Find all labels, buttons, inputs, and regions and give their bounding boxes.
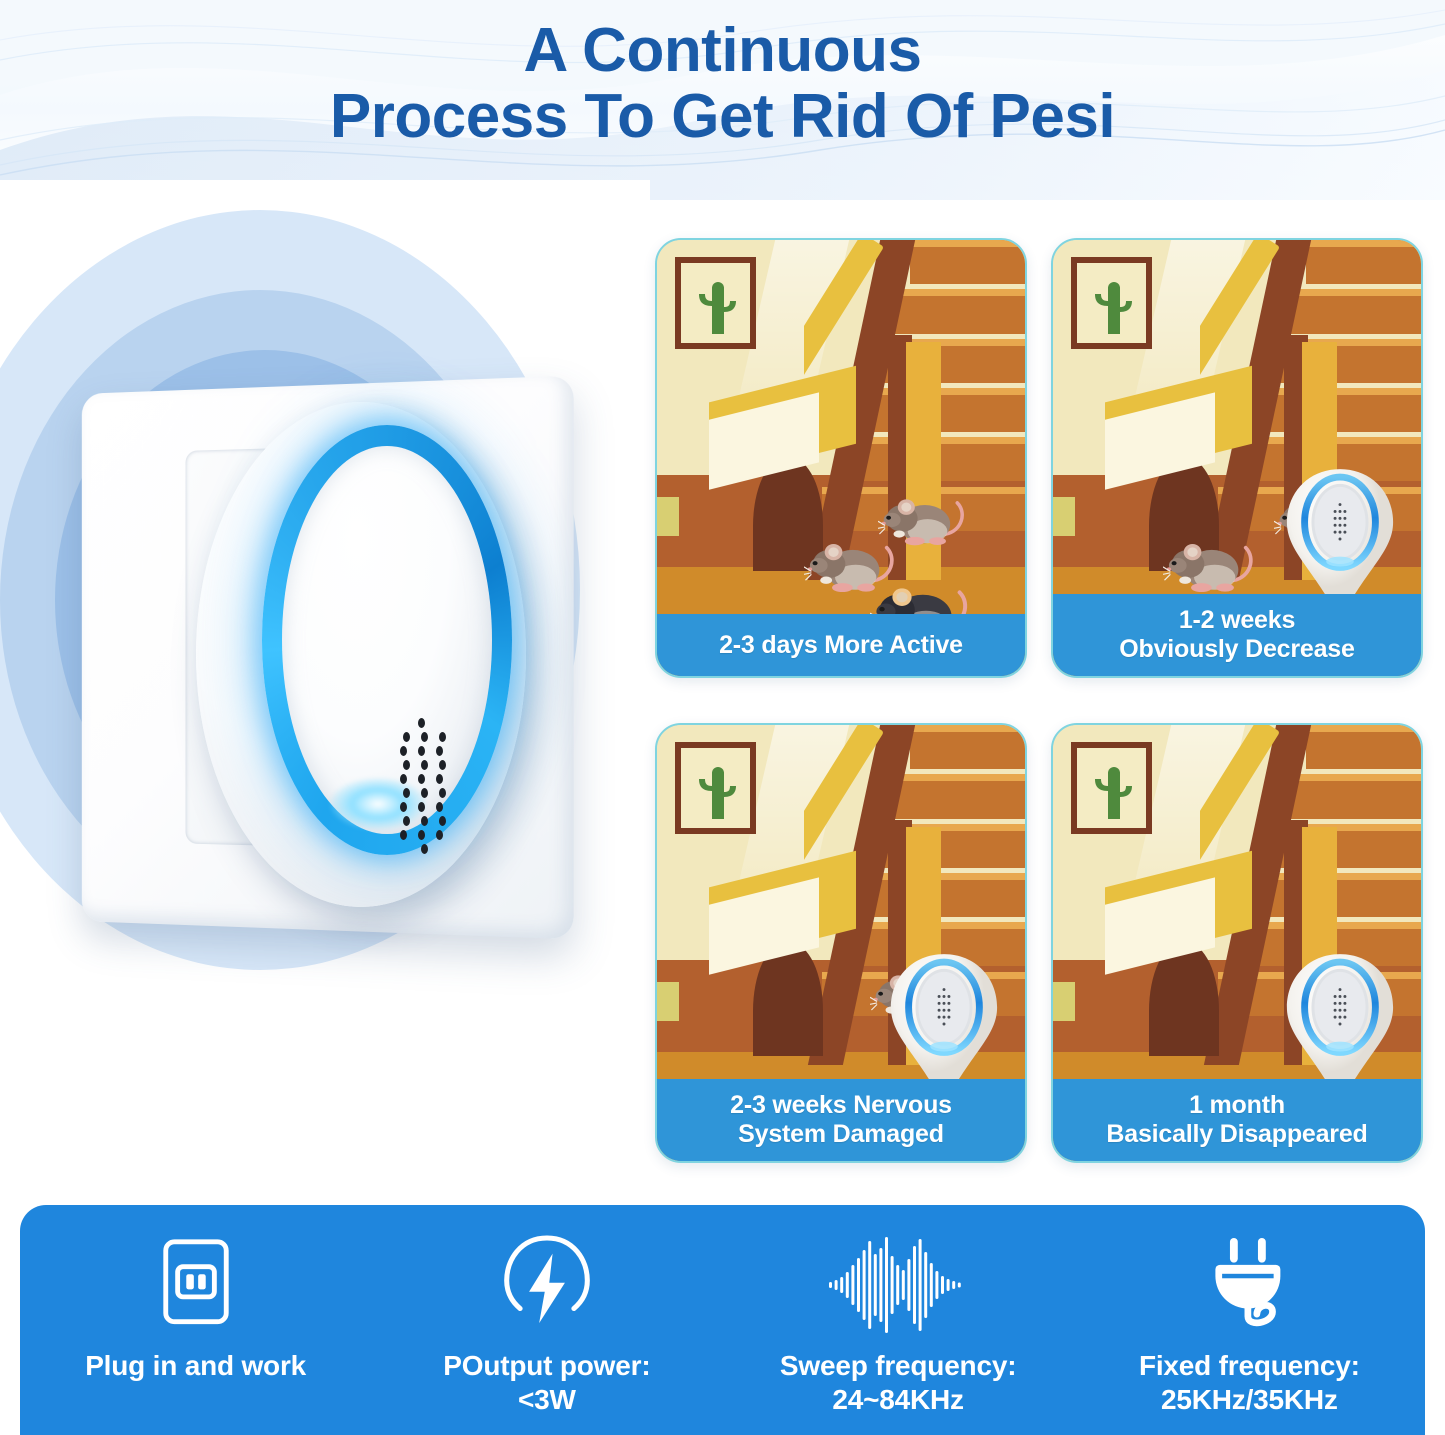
grille-dot: [436, 746, 443, 756]
page-title: A Continuous Process To Get Rid Of Pesi: [0, 18, 1445, 149]
grille-dot: [418, 746, 425, 756]
wall-patch: [1053, 982, 1075, 1021]
wave-bar: [880, 1248, 883, 1322]
feature-label-3-line1: Sweep frequency:: [780, 1350, 1016, 1381]
wave-bar: [958, 1283, 961, 1288]
wave-bar: [840, 1277, 843, 1293]
power-plug-icon: [1193, 1229, 1305, 1341]
power-outlet-icon: [142, 1229, 250, 1341]
feature-plug-in-and-work: Plug in and work: [20, 1205, 371, 1435]
cactus-picture-frame: [675, 257, 756, 349]
stage-caption-line2: Basically Disappeared: [1106, 1120, 1367, 1148]
wave-bar: [874, 1254, 877, 1316]
stage-caption-line1: 1-2 weeks: [1179, 606, 1295, 634]
grille-dot: [421, 844, 428, 854]
wave-bar: [852, 1265, 855, 1305]
stage-caption-line2: System Damaged: [738, 1120, 944, 1148]
product-infographic: A Continuous Process To Get Rid Of Pesi: [0, 0, 1445, 1435]
grille-dot: [403, 732, 410, 742]
header-banner: A Continuous Process To Get Rid Of Pesi: [0, 0, 1445, 200]
grille-dot: [421, 816, 428, 826]
grille-dot: [421, 732, 428, 742]
feature-label-1-line1: Plug in and work: [85, 1350, 306, 1381]
grille-dot: [439, 732, 446, 742]
grille-dot: [439, 816, 446, 826]
stage-card[interactable]: 1-2 weeks Obviously Decrease: [1051, 238, 1423, 678]
grille-dot: [400, 830, 407, 840]
stair-step: [910, 725, 1025, 769]
room-scene: [657, 240, 1025, 676]
grille-dot: [421, 760, 428, 770]
grille-dot: [403, 816, 410, 826]
feature-label-3-line2: 24~84KHz: [832, 1384, 963, 1415]
stage-caption-line2: Obviously Decrease: [1119, 635, 1354, 663]
feature-label-4: Fixed frequency: 25KHz/35KHz: [1139, 1349, 1360, 1417]
wave-bar: [902, 1270, 905, 1300]
grille-dot: [436, 830, 443, 840]
grille-dot: [400, 746, 407, 756]
wave-bar: [924, 1252, 927, 1318]
feature-label-2: POutput power: <3W: [443, 1349, 650, 1417]
lightning-bolt-icon: [491, 1229, 603, 1341]
grille-dot: [418, 802, 425, 812]
stage-caption-line1: 2-3 weeks Nervous: [730, 1091, 952, 1119]
rodent-icon: [1163, 528, 1259, 603]
stage-caption-line1: 1 month: [1189, 1091, 1285, 1119]
cactus-picture-icon: [1083, 757, 1141, 823]
cactus-picture-frame: [1071, 257, 1152, 349]
cactus-picture-frame: [1071, 742, 1152, 834]
wave-bar: [857, 1258, 860, 1312]
feature-label-2-line1: POutput power:: [443, 1350, 650, 1381]
stage-caption: 2-3 days More Active: [657, 614, 1025, 676]
product-hero-panel: [0, 180, 650, 1190]
feature-label-1: Plug in and work: [85, 1349, 306, 1383]
wave-bar: [936, 1271, 939, 1299]
wave-bar: [913, 1246, 916, 1324]
wave-bar: [885, 1237, 888, 1333]
sound-wave-icon: [823, 1229, 973, 1341]
grille-dot: [400, 802, 407, 812]
stage-caption: 2-3 weeks Nervous System Damaged: [657, 1079, 1025, 1161]
process-stage-cards: 2-3 days More Active: [655, 238, 1423, 1163]
feature-label-3: Sweep frequency: 24~84KHz: [780, 1349, 1016, 1417]
wave-bar: [919, 1239, 922, 1331]
wave-bar: [930, 1263, 933, 1307]
feature-spec-bar: Plug in and work POutput power: <3W Sw: [20, 1205, 1425, 1435]
stage-card[interactable]: 2-3 days More Active: [655, 238, 1027, 678]
grille-dot: [403, 788, 410, 798]
cactus-picture-icon: [687, 272, 745, 338]
stage-card[interactable]: 2-3 weeks Nervous System Damaged: [655, 723, 1027, 1163]
wall-patch: [657, 497, 679, 536]
grille-dot: [418, 718, 425, 728]
wall-patch: [1053, 497, 1075, 536]
stair-step: [910, 240, 1025, 284]
grille-dot: [418, 774, 425, 784]
title-line-1: A Continuous: [0, 18, 1445, 84]
wave-bar: [891, 1256, 894, 1314]
feature-label-4-line2: 25KHz/35KHz: [1161, 1384, 1338, 1415]
speaker-grille: [398, 718, 462, 854]
feature-output-power: POutput power: <3W: [371, 1205, 722, 1435]
grille-dot: [439, 760, 446, 770]
feature-label-4-line1: Fixed frequency:: [1139, 1350, 1360, 1381]
title-line-2: Process To Get Rid Of Pesi: [0, 84, 1445, 150]
stair-step: [1306, 725, 1421, 769]
grille-dot: [439, 788, 446, 798]
wave-bar: [868, 1241, 871, 1329]
grille-dot: [436, 802, 443, 812]
stage-caption: 1-2 weeks Obviously Decrease: [1053, 594, 1421, 676]
wave-bar: [835, 1280, 838, 1290]
stair-step: [1289, 289, 1421, 333]
grille-dot: [418, 830, 425, 840]
wave-bar: [947, 1279, 950, 1291]
wave-bar: [941, 1276, 944, 1294]
wave-bar: [896, 1265, 899, 1305]
grille-dot: [400, 774, 407, 784]
grille-dot: [436, 774, 443, 784]
stage-card[interactable]: 1 month Basically Disappeared: [1051, 723, 1423, 1163]
wave-bar: [846, 1272, 849, 1298]
feature-fixed-frequency: Fixed frequency: 25KHz/35KHz: [1074, 1205, 1425, 1435]
grille-dot: [421, 788, 428, 798]
wave-bar: [952, 1281, 955, 1289]
wall-patch: [657, 982, 679, 1021]
stage-caption: 1 month Basically Disappeared: [1053, 1079, 1421, 1161]
grille-dot: [403, 760, 410, 770]
stair-step: [1306, 240, 1421, 284]
stage-caption-line1: 2-3 days More Active: [719, 631, 963, 659]
stair-step: [1289, 774, 1421, 818]
cactus-picture-icon: [1083, 272, 1141, 338]
stair-step: [893, 774, 1025, 818]
cactus-picture-icon: [687, 757, 745, 823]
cactus-picture-frame: [675, 742, 756, 834]
feature-sweep-frequency: Sweep frequency: 24~84KHz: [723, 1205, 1074, 1435]
wave-bar: [829, 1282, 832, 1288]
stair-step: [893, 289, 1025, 333]
wave-bar: [863, 1250, 866, 1320]
wave-bar: [908, 1259, 911, 1311]
feature-label-2-line2: <3W: [518, 1384, 576, 1415]
